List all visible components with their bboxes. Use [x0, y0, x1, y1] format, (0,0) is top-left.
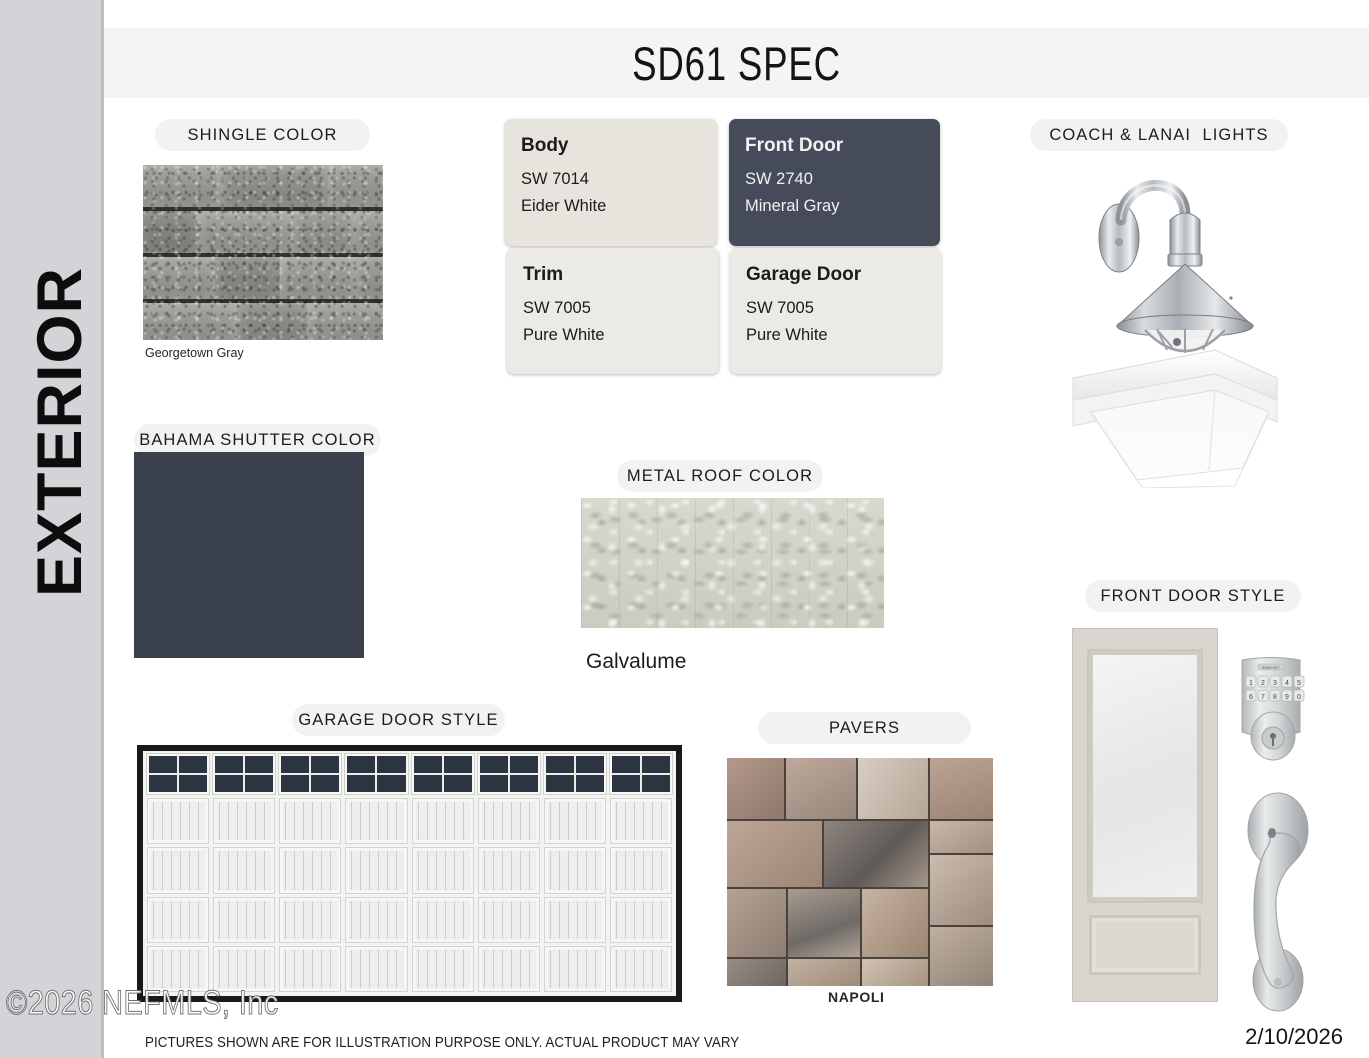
svg-text:KWIKSET: KWIKSET — [1262, 665, 1281, 670]
coach-light-image — [1075, 158, 1275, 353]
front-door-image — [1072, 628, 1218, 1002]
paint-chip-garage-door: Garage Door SW 7005 Pure White — [730, 248, 941, 374]
door-handleset-image — [1238, 786, 1328, 1016]
svg-text:8: 8 — [1273, 694, 1277, 701]
caption-shingle: Georgetown Gray — [145, 346, 244, 360]
date-stamp: 2/10/2026 — [1245, 1024, 1343, 1050]
paint-chip-garage-door-code: SW 7005 — [746, 295, 941, 322]
svg-text:1: 1 — [1249, 680, 1253, 687]
paint-chip-trim-color: Pure White — [523, 322, 719, 349]
label-shingle-color: SHINGLE COLOR — [155, 119, 370, 151]
paint-chip-front-door-code: SW 2740 — [745, 166, 940, 193]
paint-chip-front-door-name: Front Door — [745, 135, 940, 157]
paint-chip-body-code: SW 7014 — [521, 166, 717, 193]
paint-chip-front-door-color: Mineral Gray — [745, 193, 940, 220]
svg-text:5: 5 — [1297, 680, 1301, 687]
left-gutter: EXTERIOR — [0, 0, 104, 1058]
paint-chip-front-door: Front Door SW 2740 Mineral Gray — [729, 119, 940, 246]
svg-text:0: 0 — [1297, 694, 1301, 701]
garage-door-window-row — [143, 751, 676, 794]
paint-chip-body-name: Body — [521, 135, 717, 157]
watermark: ©2026 NEFMLS, Inc — [6, 984, 279, 1023]
door-glass-lite — [1089, 651, 1201, 901]
svg-text:7: 7 — [1261, 694, 1265, 701]
paint-chip-trim: Trim SW 7005 Pure White — [507, 248, 719, 374]
paint-chip-trim-code: SW 7005 — [523, 295, 719, 322]
metal-roof-swatch — [581, 498, 884, 628]
disclaimer-text: PICTURES SHOWN ARE FOR ILLUSTRATION PURP… — [145, 1035, 739, 1051]
shingle-swatch — [143, 165, 383, 340]
paint-chip-body-color: Eider White — [521, 193, 717, 220]
label-pavers: PAVERS — [758, 712, 971, 744]
garage-door-image — [137, 745, 682, 1002]
svg-text:2: 2 — [1261, 680, 1265, 687]
svg-text:6: 6 — [1249, 694, 1253, 701]
paint-chip-trim-name: Trim — [523, 264, 719, 286]
svg-text:3: 3 — [1273, 680, 1277, 687]
paint-chip-garage-door-color: Pure White — [746, 322, 941, 349]
lanai-light-image — [1065, 338, 1285, 488]
keypad-deadbolt-image: KWIKSET 123 45 678 90 — [1228, 656, 1314, 764]
label-metal-roof-color: METAL ROOF COLOR — [617, 460, 823, 492]
paint-chip-body: Body SW 7014 Eider White — [505, 119, 717, 246]
caption-pavers: NAPOLI — [828, 989, 885, 1005]
paint-chip-garage-door-name: Garage Door — [746, 264, 941, 286]
caption-metal-roof: Galvalume — [586, 650, 686, 674]
label-coach-lanai-lights: COACH & LANAI LIGHTS — [1030, 119, 1288, 151]
svg-text:9: 9 — [1285, 694, 1289, 701]
page-title: SD61 SPEC — [243, 28, 1230, 98]
label-front-door-style: FRONT DOOR STYLE — [1085, 580, 1301, 612]
label-garage-door-style: GARAGE DOOR STYLE — [292, 704, 505, 736]
section-label-exterior: EXTERIOR — [8, 232, 112, 632]
door-lower-panel — [1089, 915, 1201, 975]
spec-sheet-page: EXTERIOR SD61 SPEC SHINGLE COLOR Georget… — [0, 0, 1369, 1058]
svg-text:4: 4 — [1285, 680, 1289, 687]
bahama-shutter-swatch — [134, 452, 364, 658]
pavers-swatch — [727, 758, 993, 986]
